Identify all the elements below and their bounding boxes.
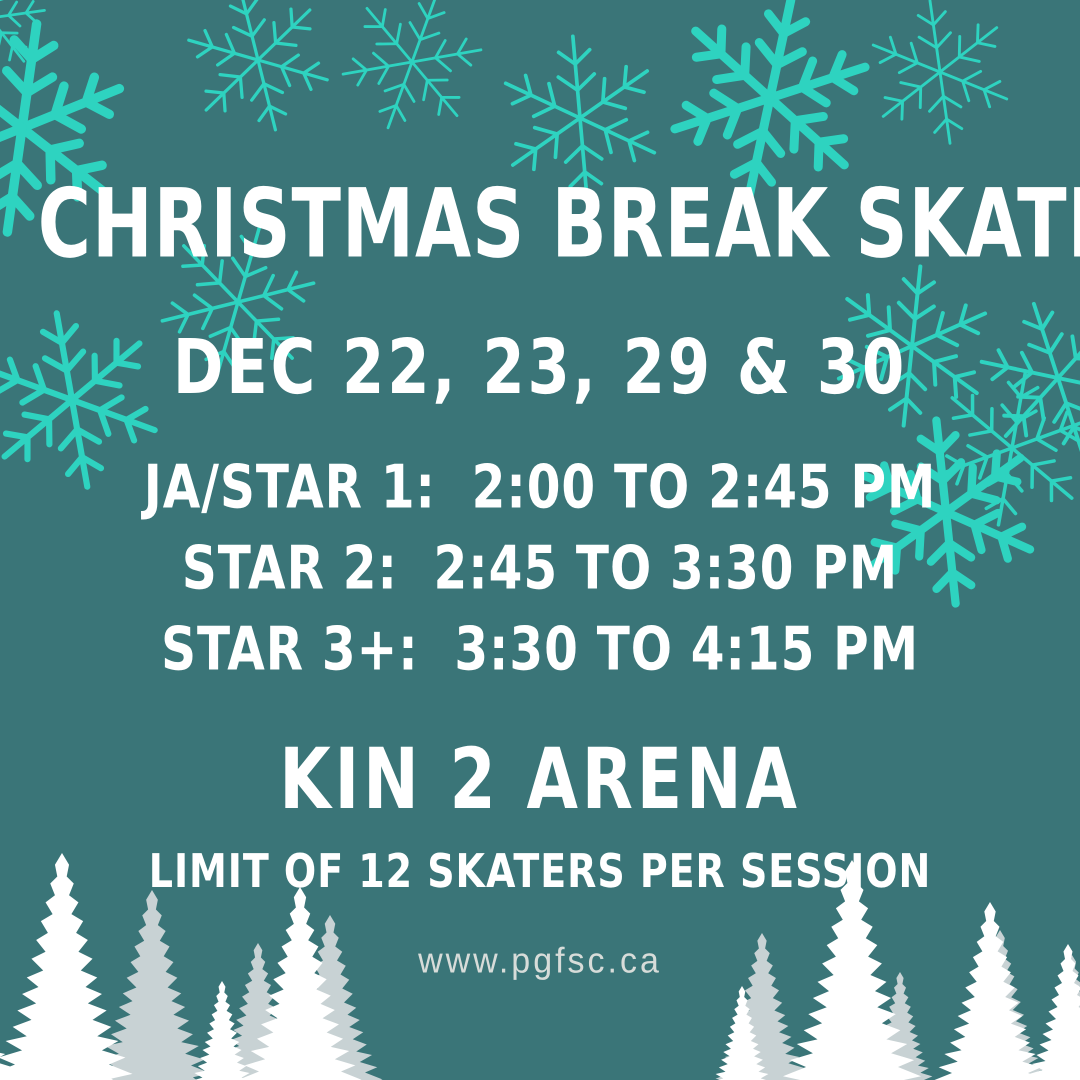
page-title: CHRISTMAS BREAK SKATING	[38, 177, 1042, 272]
christmas-skating-poster: CHRISTMAS BREAK SKATING DEC 22, 23, 29 &…	[0, 0, 1080, 1080]
schedule-line-ja-star1: JA/STAR 1: 2:00 TO 2:45 PM	[16, 457, 1064, 517]
capacity-note: LIMIT OF 12 SKATERS PER SESSION	[27, 849, 1053, 895]
dates-line: DEC 22, 23, 29 & 30	[27, 330, 1053, 406]
venue-name: KIN 2 ARENA	[27, 737, 1053, 821]
website-url: www.pgfsc.ca	[0, 943, 1080, 979]
schedule-line-star3plus: STAR 3+: 3:30 TO 4:15 PM	[16, 619, 1064, 679]
schedule-line-star2: STAR 2: 2:45 TO 3:30 PM	[16, 538, 1064, 598]
